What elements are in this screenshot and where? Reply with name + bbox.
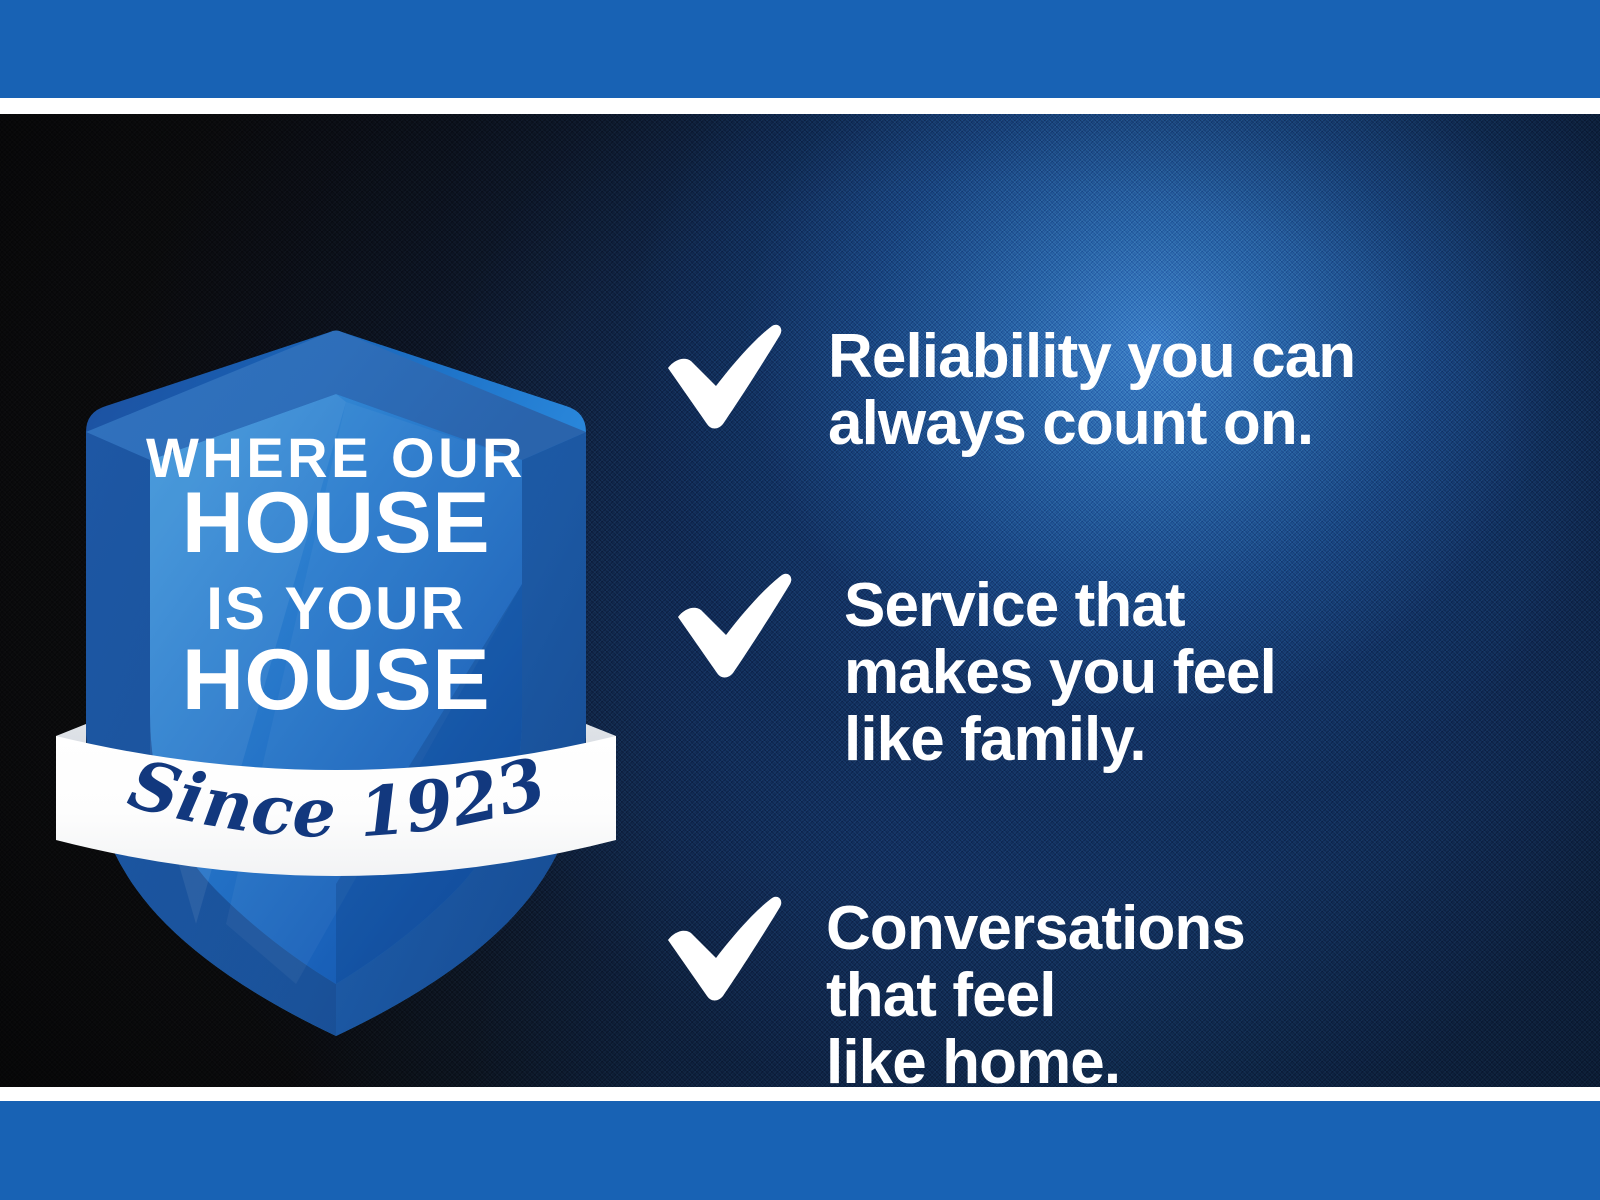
bottom-brand-bar xyxy=(0,1101,1600,1200)
logo-line-2: HOUSE xyxy=(182,475,490,571)
checklist-item-text: Reliability you can always count on. xyxy=(828,320,1355,458)
checklist-item-service: Service that makes you feel like family. xyxy=(670,569,1276,774)
checklist-item-conversations: Conversations that feel like home. xyxy=(660,892,1245,1087)
main-canvas: WHERE OUR HOUSE IS YOUR HOUSE xyxy=(0,114,1600,1087)
benefits-checklist: Reliability you can always count on. Ser… xyxy=(660,214,1540,1064)
checklist-item-text: Conversations that feel like home. xyxy=(826,892,1245,1087)
checkmark-icon xyxy=(670,569,798,679)
top-brand-bar xyxy=(0,0,1600,98)
checkmark-icon xyxy=(660,892,788,1002)
checkmark-icon xyxy=(660,320,788,430)
logo-line-4: HOUSE xyxy=(182,632,490,728)
promo-graphic: WHERE OUR HOUSE IS YOUR HOUSE xyxy=(0,0,1600,1200)
checklist-item-text: Service that makes you feel like family. xyxy=(844,569,1276,774)
checklist-item-reliability: Reliability you can always count on. xyxy=(660,320,1355,458)
shield-logo: WHERE OUR HOUSE IS YOUR HOUSE xyxy=(46,284,626,1074)
